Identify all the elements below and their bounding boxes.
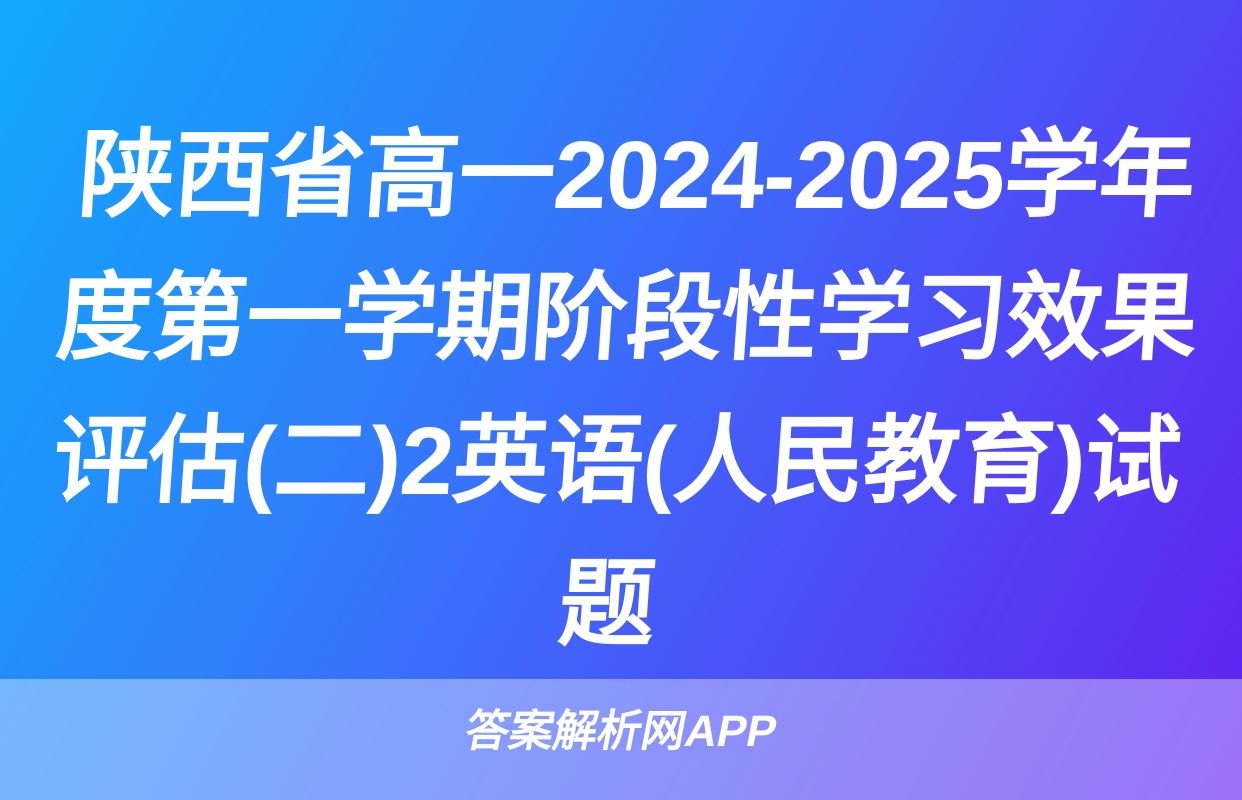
- page-title-text: 陕西省高一2024-2025学年度第一学期阶段性学习效果评估(二)2英语(人民教…: [21, 104, 1223, 676]
- exam-title-card: 陕西省高一2024-2025学年度第一学期阶段性学习效果评估(二)2英语(人民教…: [0, 0, 1242, 800]
- app-watermark: 答案解析网APP: [0, 703, 1242, 761]
- page-title: 陕西省高一2024-2025学年度第一学期阶段性学习效果评估(二)2英语(人民教…: [0, 0, 1242, 800]
